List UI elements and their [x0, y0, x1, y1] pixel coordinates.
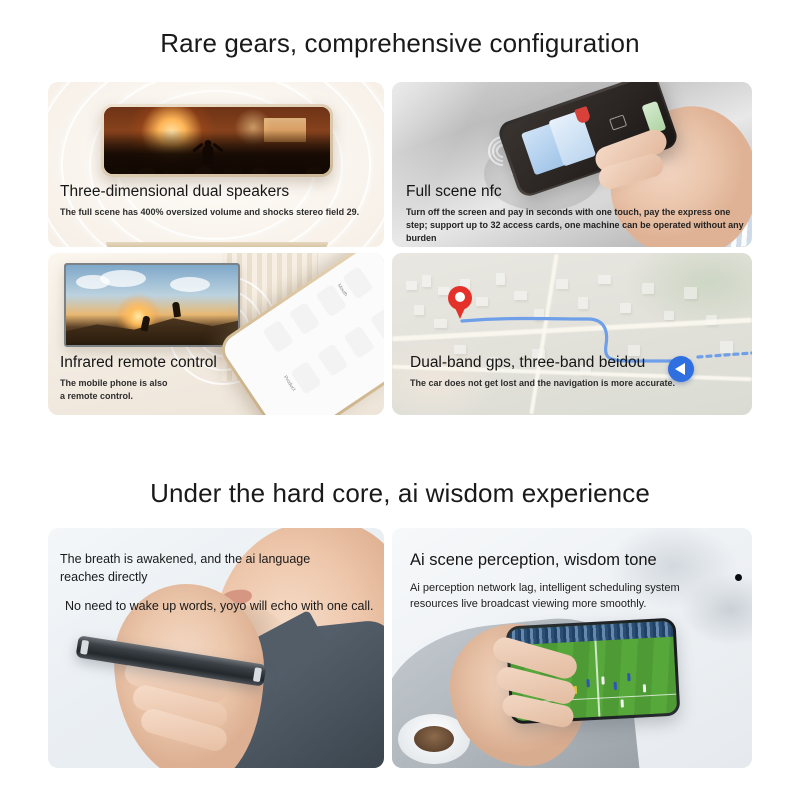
card-description: The mobile phone is also a remote contro… — [60, 377, 170, 403]
card-title: Dual-band gps, three-band beidou — [410, 353, 675, 372]
television — [64, 263, 240, 347]
card-title: Infrared remote control — [60, 353, 217, 372]
section-heading-ai-wisdom: Under the hard core, ai wisdom experienc… — [0, 478, 800, 509]
remote-key[interactable] — [317, 343, 349, 377]
card-voice-wake[interactable]: The breath is awakened, and the ai langu… — [48, 528, 384, 768]
card-text-block: Full scene nfc Turn off the screen and p… — [406, 182, 746, 246]
card-dual-band-gps[interactable]: Dual-band gps, three-band beidou The car… — [392, 253, 752, 415]
phone-bottom-edge — [106, 242, 328, 247]
card-text-block: The breath is awakened, and the ai langu… — [60, 550, 374, 613]
card-text-block: Dual-band gps, three-band beidou The car… — [410, 353, 675, 390]
player — [601, 676, 604, 684]
card-ai-scene-perception[interactable]: Ai scene perception, wisdom tone Ai perc… — [392, 528, 752, 768]
remote-key[interactable] — [370, 307, 384, 341]
card-text-block: Three-dimensional dual speakers The full… — [60, 182, 359, 219]
voice-subline: No need to wake up words, yoyo will echo… — [60, 599, 374, 613]
remote-key[interactable] — [262, 320, 294, 354]
remote-key[interactable] — [289, 302, 321, 336]
fan-head — [204, 140, 211, 147]
card-description: The car does not get lost and the naviga… — [410, 377, 675, 390]
card-full-scene-nfc[interactable]: NFC Full scene nfc Turn off the screen a… — [392, 82, 752, 247]
cloud — [100, 270, 146, 287]
player — [628, 673, 631, 681]
map-pin-icon — [448, 286, 472, 320]
phone-screen-concert — [104, 107, 330, 174]
card-dual-speakers[interactable]: Three-dimensional dual speakers The full… — [48, 82, 384, 247]
card-infrared-remote[interactable]: Mouth Product Infrared remote control Th… — [48, 253, 384, 415]
card-title: Ai scene perception, wisdom tone — [410, 550, 710, 571]
card-description: Turn off the screen and pay in seconds w… — [406, 206, 746, 245]
mountain-ridge — [64, 305, 240, 347]
card-title: Three-dimensional dual speakers — [60, 182, 359, 201]
player — [587, 679, 590, 687]
card-text-block: Infrared remote control The mobile phone… — [60, 353, 217, 403]
card-title: Full scene nfc — [406, 182, 746, 201]
fan-body — [202, 145, 213, 164]
card-description: Ai perception network lag, intelligent s… — [410, 580, 710, 613]
pitch-halfway-line — [595, 641, 600, 717]
player — [613, 682, 616, 690]
section-heading-configuration: Rare gears, comprehensive configuration — [0, 28, 800, 59]
fan-silhouette — [198, 134, 218, 164]
player — [621, 699, 624, 707]
hiker-upper — [172, 302, 181, 318]
voice-headline: The breath is awakened, and the ai langu… — [60, 550, 340, 586]
product-feature-page: Rare gears, comprehensive configuration — [0, 0, 800, 800]
pin-center-dot — [455, 292, 465, 302]
cloud — [170, 277, 210, 292]
navigation-route — [392, 253, 752, 415]
phone-landscape — [101, 104, 333, 177]
tv-screen-hikers — [66, 265, 238, 345]
card-text-block: Ai scene perception, wisdom tone Ai perc… — [410, 550, 710, 613]
card-glyph-icon — [608, 114, 626, 130]
camera-punch-hole — [735, 574, 742, 581]
card-description: The full scene has 400% oversized volume… — [60, 206, 359, 219]
player — [643, 684, 646, 692]
remote-key[interactable] — [343, 325, 375, 359]
